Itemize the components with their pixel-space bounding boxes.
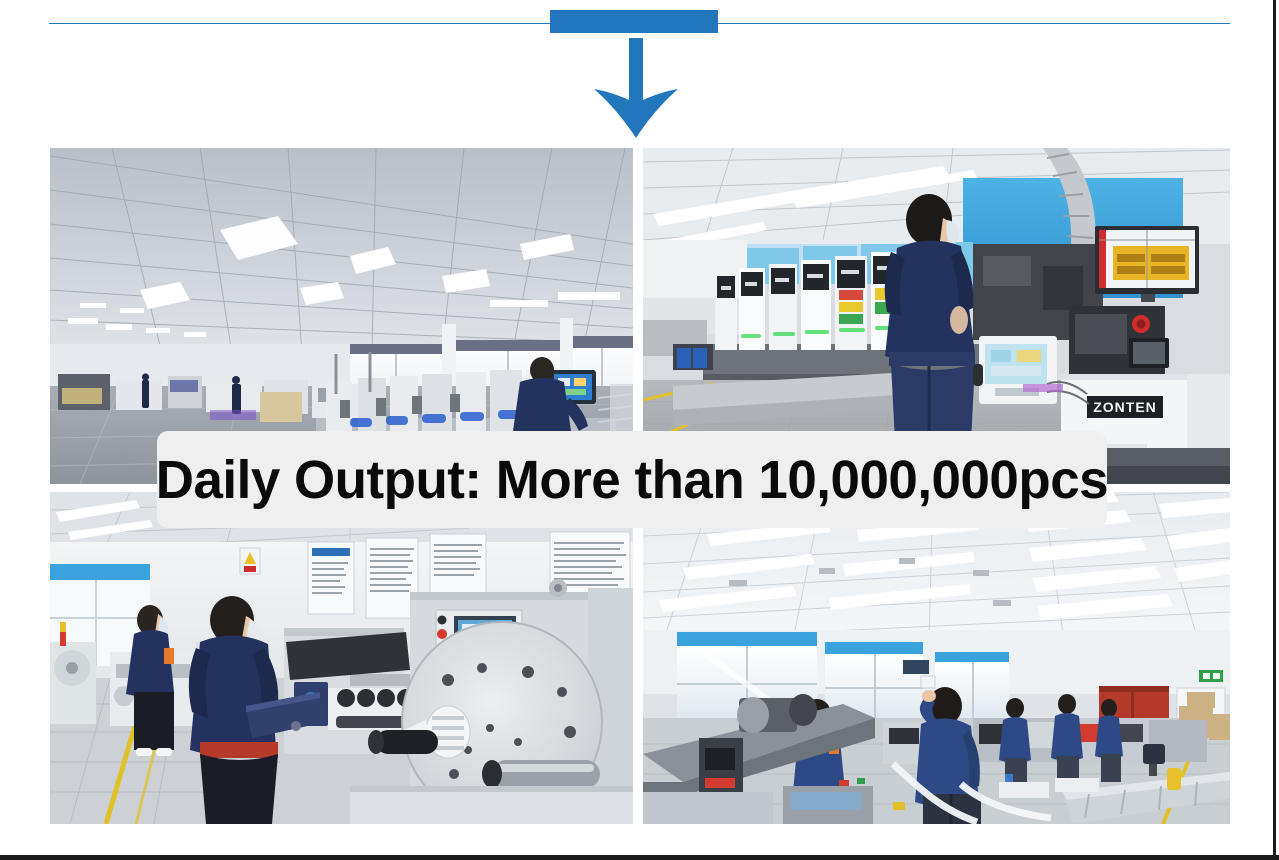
down-arrow-icon	[592, 38, 680, 138]
page-bottom-edge	[0, 855, 1279, 860]
daily-output-caption-banner: Daily Output: More than 10,000,000pcs	[157, 431, 1107, 528]
photo-bottom-left: RUIYUAN	[50, 492, 633, 824]
caption-text: Daily Output: More than 10,000,000pcs	[156, 453, 1108, 507]
svg-text:ZONTEN: ZONTEN	[1093, 399, 1157, 415]
header-divider-bar	[550, 10, 718, 33]
photo-bottom-right	[643, 492, 1230, 824]
page-right-edge	[1273, 0, 1276, 860]
